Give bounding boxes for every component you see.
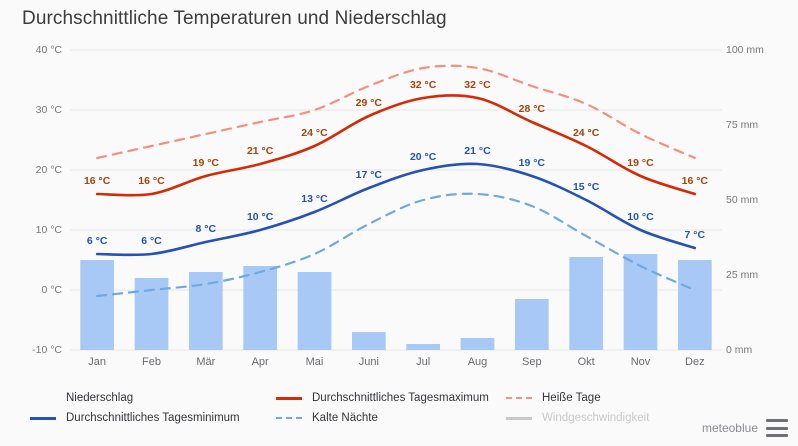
left-axis-tick: 40 °C (18, 44, 62, 56)
tmax-value-label: 16 °C (84, 175, 110, 187)
precipitation-bar[interactable] (624, 254, 658, 350)
hot-days-line (97, 66, 695, 158)
tmax-value-label: 29 °C (356, 97, 382, 109)
month-label: Okt (578, 356, 595, 368)
tmin-value-label: 6 °C (87, 235, 108, 247)
right-axis-tick: 0 mm (726, 344, 786, 356)
left-axis-tick: -10 °C (18, 344, 62, 356)
precipitation-bar[interactable] (243, 266, 277, 350)
legend-swatch-tmin-icon (28, 411, 58, 425)
tmin-value-label: 19 °C (519, 157, 545, 169)
legend-label: Niederschlag (66, 392, 133, 404)
left-axis-tick: 30 °C (18, 104, 62, 116)
left-axis-tick: 10 °C (18, 224, 62, 236)
tmax-value-label: 24 °C (301, 127, 327, 139)
month-label: Jan (88, 356, 106, 368)
legend-swatch-wind-icon (504, 411, 534, 425)
legend-label: Durchschnittliches Tagesmaximum (312, 392, 489, 404)
tmin-value-label: 6 °C (141, 235, 162, 247)
precipitation-bar[interactable] (298, 272, 332, 350)
month-label: Nov (631, 356, 651, 368)
tmax-value-label: 19 °C (193, 157, 219, 169)
tmin-value-label: 20 °C (410, 151, 436, 163)
precipitation-bar[interactable] (189, 272, 223, 350)
legend-label: Windgeschwindigkeit (542, 412, 649, 424)
legend-swatch-hot_days-icon (504, 391, 534, 405)
hamburger-menu-icon[interactable] (766, 418, 788, 438)
legend-item-cold_nights[interactable]: Kalte Nächte (274, 408, 504, 428)
month-label: Apr (252, 356, 269, 368)
precipitation-bar[interactable] (569, 257, 603, 350)
precipitation-bar[interactable] (678, 260, 712, 350)
tmax-value-label: 16 °C (138, 175, 164, 187)
right-axis-tick: 50 mm (726, 194, 786, 206)
hot_days-path (97, 66, 695, 158)
tmin-line (97, 164, 695, 255)
legend-swatch-cold_nights-icon (274, 411, 304, 425)
right-axis-tick: 75 mm (726, 119, 786, 131)
precipitation-bars (80, 254, 711, 350)
precipitation-bar[interactable] (406, 344, 440, 350)
legend-row: NiederschlagDurchschnittliches Tagesmaxi… (28, 388, 728, 408)
legend-swatch-tmax-icon (274, 391, 304, 405)
brand-name: meteoblue (702, 421, 758, 435)
brand-area: meteoblue (702, 418, 788, 438)
legend-label: Heiße Tage (542, 392, 601, 404)
tmin-path (97, 164, 695, 255)
tmax-value-label: 21 °C (247, 145, 273, 157)
chart-plot-area (0, 0, 798, 446)
tmin-value-label: 10 °C (247, 211, 273, 223)
right-axis-tick: 25 mm (726, 269, 786, 281)
tmin-value-label: 8 °C (196, 223, 217, 235)
precipitation-bar[interactable] (461, 338, 495, 350)
tmin-value-label: 13 °C (301, 193, 327, 205)
tmin-value-label: 17 °C (356, 169, 382, 181)
legend-item-wind[interactable]: Windgeschwindigkeit (504, 408, 684, 428)
precipitation-bar[interactable] (352, 332, 386, 350)
left-axis-tick: 0 °C (18, 284, 62, 296)
tmin-value-label: 7 °C (685, 229, 706, 241)
tmin-value-label: 15 °C (573, 181, 599, 193)
tmax-value-label: 24 °C (573, 127, 599, 139)
legend-item-tmin[interactable]: Durchschnittliches Tagesminimum (28, 408, 274, 428)
weather-chart-widget: Durchschnittliche Temperaturen und Niede… (0, 0, 798, 446)
legend-label: Durchschnittliches Tagesminimum (66, 412, 240, 424)
legend-item-precipitation[interactable]: Niederschlag (28, 388, 274, 408)
legend-swatch-precipitation-icon (28, 391, 58, 405)
tmin-value-label: 21 °C (464, 145, 490, 157)
legend-item-hot_days[interactable]: Heiße Tage (504, 388, 684, 408)
month-label: Dez (685, 356, 705, 368)
right-axis-tick: 100 mm (726, 44, 786, 56)
precipitation-bar[interactable] (80, 260, 114, 350)
left-axis-tick: 20 °C (18, 164, 62, 176)
chart-legend: NiederschlagDurchschnittliches Tagesmaxi… (28, 388, 728, 428)
legend-label: Kalte Nächte (312, 412, 378, 424)
tmax-value-label: 32 °C (464, 79, 490, 91)
month-label: Mär (196, 356, 215, 368)
legend-item-tmax[interactable]: Durchschnittliches Tagesmaximum (274, 388, 504, 408)
month-label: Sep (522, 356, 542, 368)
tmax-value-label: 19 °C (627, 157, 653, 169)
legend-row: Durchschnittliches TagesminimumKalte Näc… (28, 408, 728, 428)
tmin-value-label: 10 °C (627, 211, 653, 223)
month-label: Mai (306, 356, 324, 368)
month-label: Feb (142, 356, 161, 368)
month-label: Aug (468, 356, 488, 368)
precipitation-bar[interactable] (515, 299, 549, 350)
tmax-value-label: 28 °C (519, 103, 545, 115)
tmax-value-label: 32 °C (410, 79, 436, 91)
month-label: Juni (359, 356, 379, 368)
month-label: Jul (416, 356, 430, 368)
tmax-value-label: 16 °C (682, 175, 708, 187)
